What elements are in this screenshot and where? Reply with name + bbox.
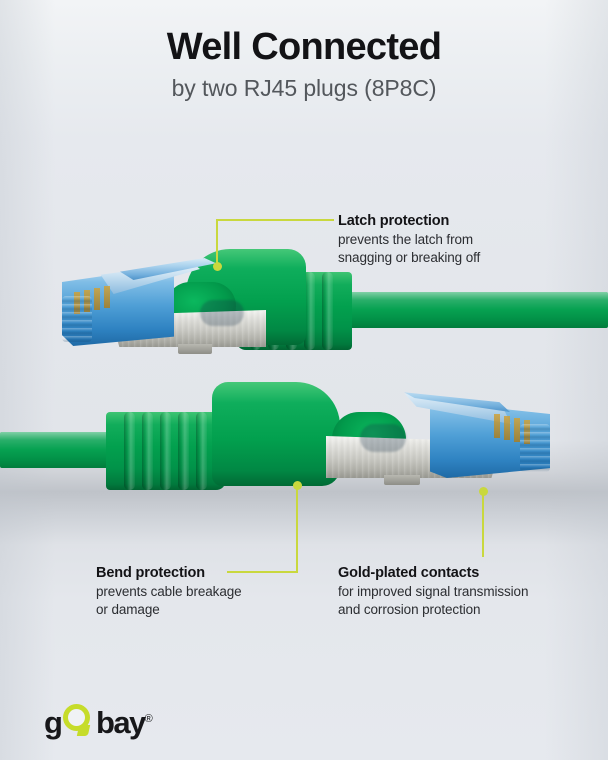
- callout-text-line: and corrosion protection: [338, 601, 528, 619]
- callout-line-latch-vertical: [216, 220, 218, 266]
- callout-line-bend-vertical: [296, 485, 298, 573]
- callout-line-gold-vertical: [482, 491, 484, 557]
- infographic-page: Well Connected by two RJ45 plugs (8P8C): [0, 0, 608, 760]
- callout-heading: Latch protection: [338, 212, 480, 231]
- logo-text-o2: o: [79, 705, 96, 740]
- page-subtitle: by two RJ45 plugs (8P8C): [0, 73, 608, 103]
- callout-text-line: prevents the latch from: [338, 231, 480, 249]
- callout-label-bend-protection: Bend protection prevents cable breakage …: [96, 564, 242, 619]
- logo-text-prefix: g: [44, 705, 61, 740]
- header: Well Connected by two RJ45 plugs (8P8C): [0, 24, 608, 103]
- logo-wordmark: goobay®: [44, 702, 153, 740]
- callout-text-line: or damage: [96, 601, 242, 619]
- callout-line-latch-horizontal: [216, 219, 334, 221]
- logo-text-suffix: bay: [96, 705, 145, 740]
- callout-text-line: for improved signal transmission: [338, 583, 528, 601]
- callout-heading: Bend protection: [96, 564, 242, 583]
- callout-text-line: prevents cable breakage: [96, 583, 242, 601]
- page-title: Well Connected: [0, 24, 608, 70]
- goobay-logo: goobay®: [44, 702, 153, 736]
- callout-text-line: snagging or breaking off: [338, 249, 480, 267]
- callout-label-latch-protection: Latch protection prevents the latch from…: [338, 212, 480, 267]
- callout-label-gold-plated-contacts: Gold-plated contacts for improved signal…: [338, 564, 528, 619]
- logo-text-o1: o: [61, 705, 78, 740]
- logo-registered-mark: ®: [145, 713, 153, 725]
- callout-heading: Gold-plated contacts: [338, 564, 528, 583]
- callout-lines-layer: [0, 0, 608, 760]
